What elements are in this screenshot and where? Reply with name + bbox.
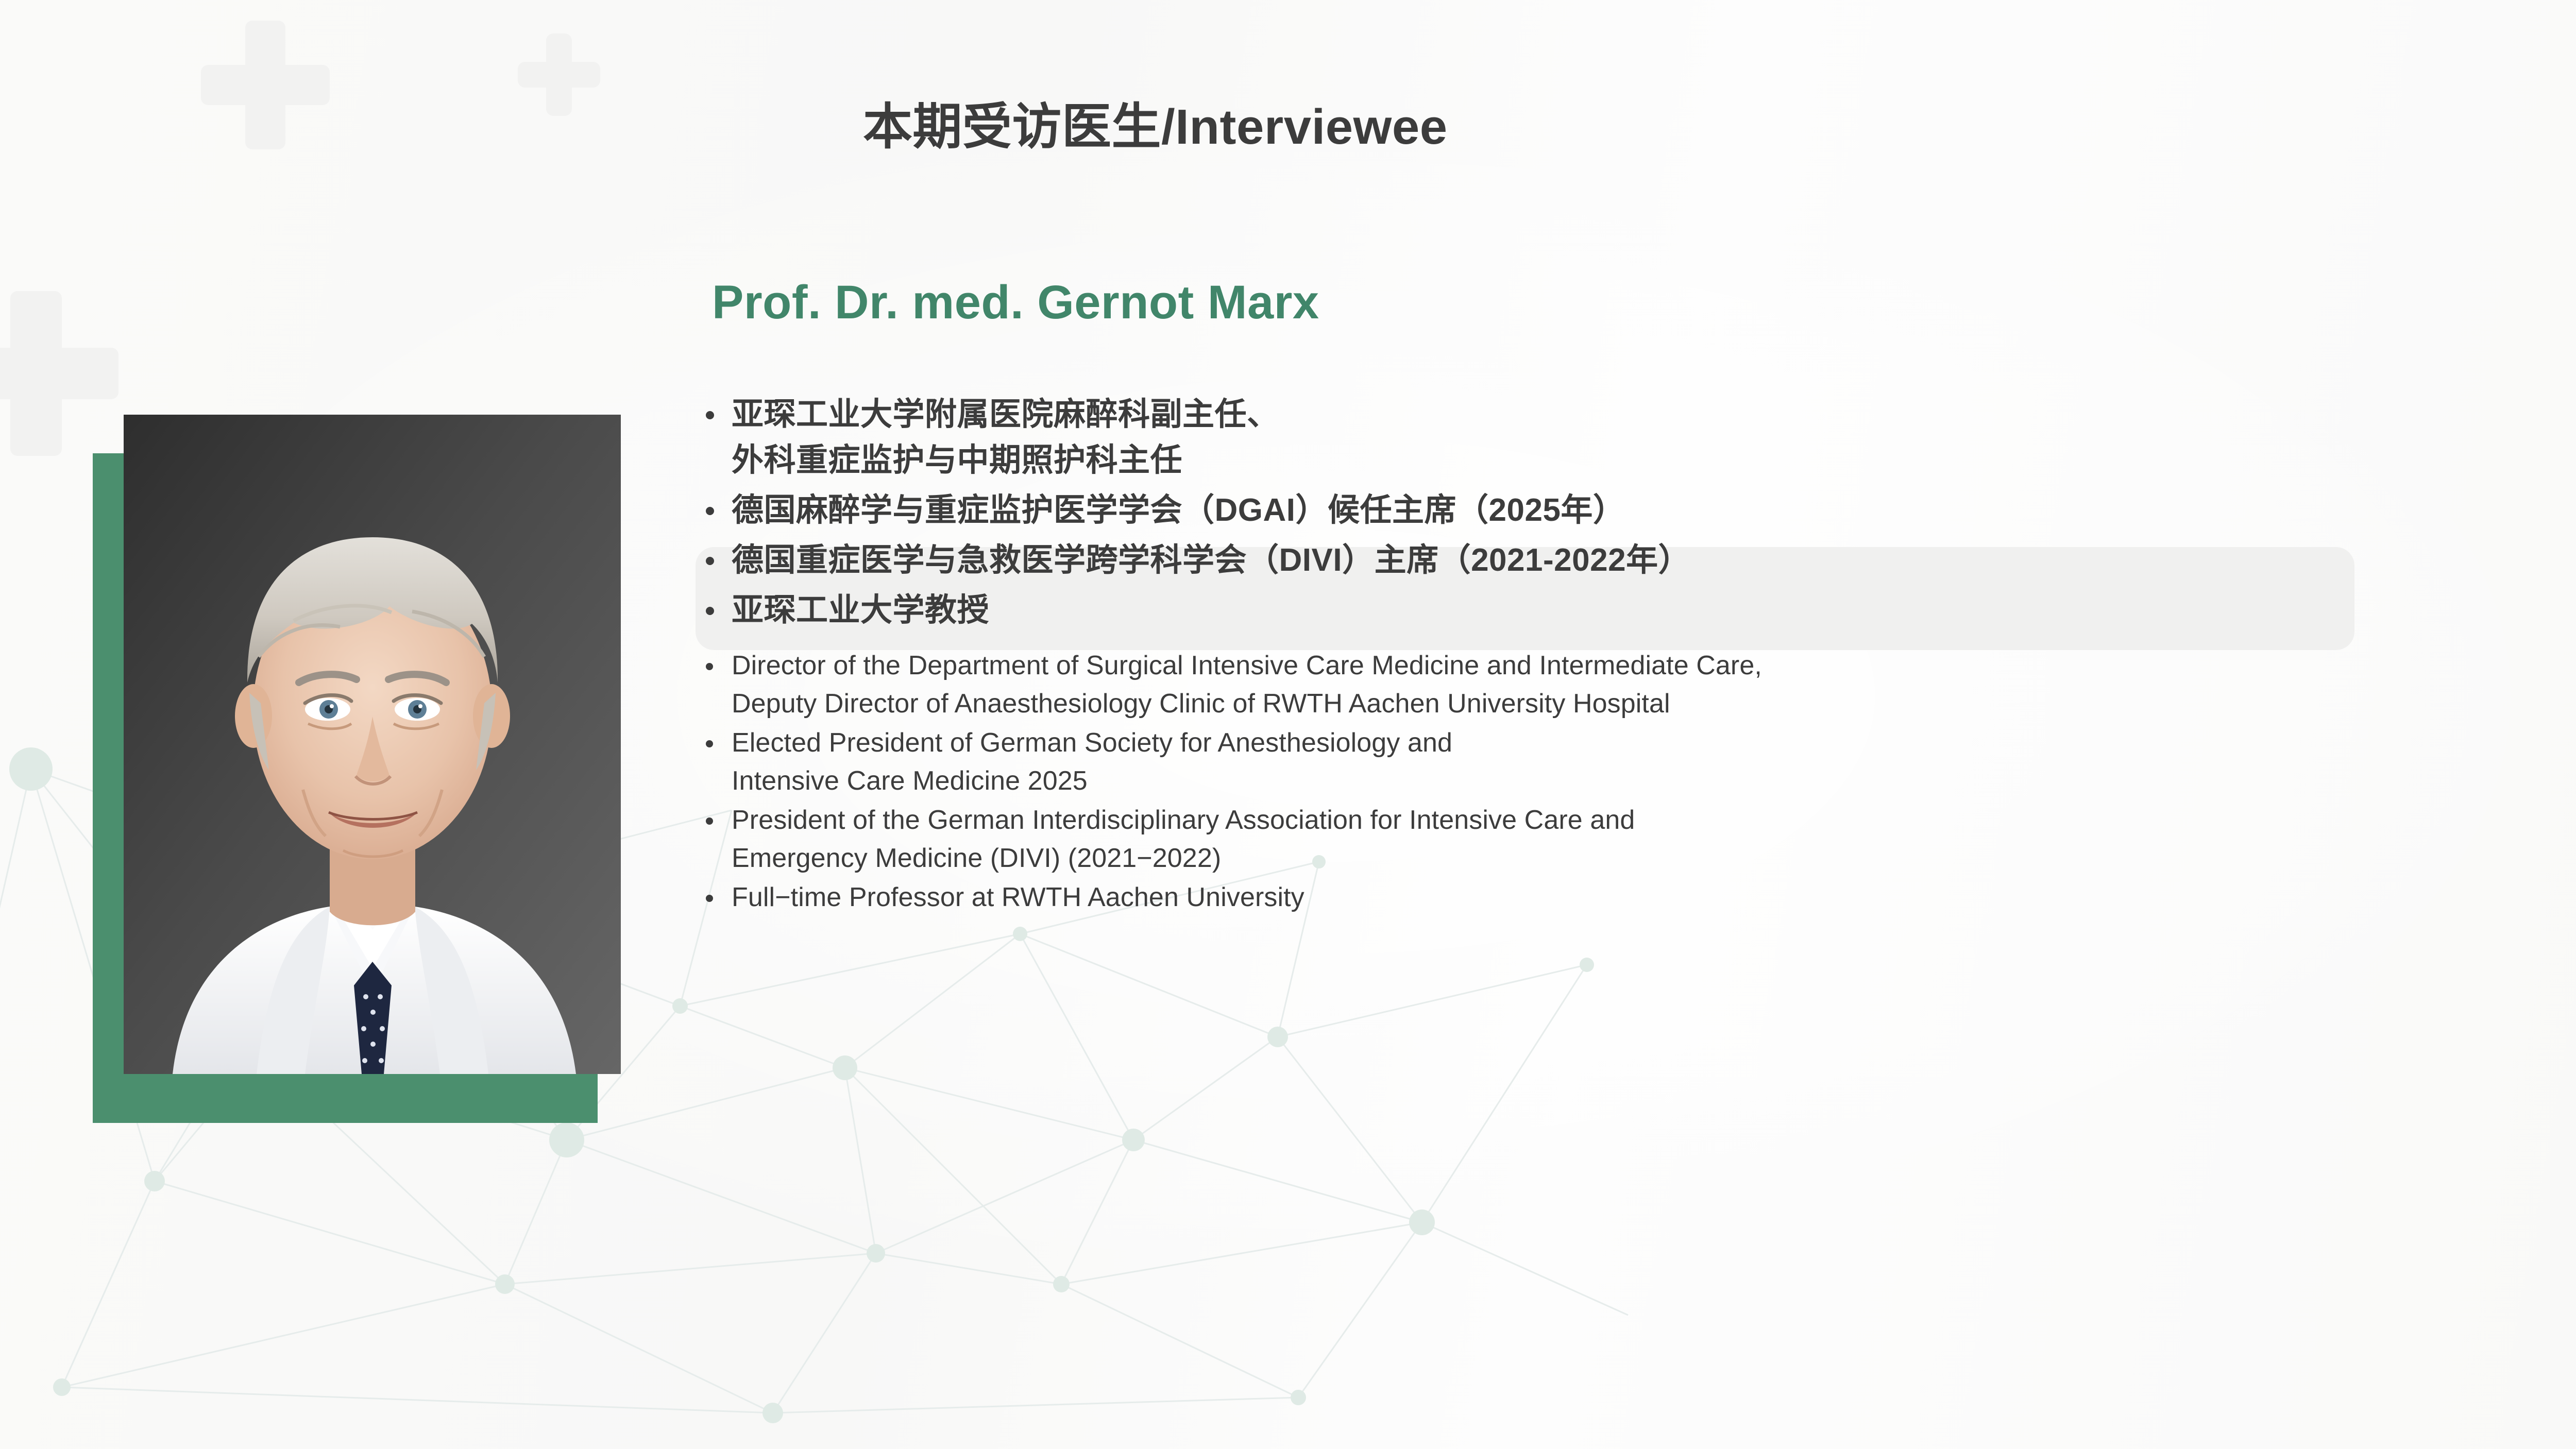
list-item: 德国麻醉学与重症监护医学学会（DGAI）候任主席（2025年） — [685, 487, 2488, 533]
cross-bar-horizontal — [201, 65, 330, 105]
list-item: Full−time Professor at RWTH Aachen Unive… — [685, 878, 2488, 916]
cross-decoration-left — [0, 291, 118, 456]
list-item: Director of the Department of Surgical I… — [685, 646, 2488, 723]
content-column: 本期受访医生/Interviewee Prof. Dr. med. Gernot… — [685, 0, 2519, 1449]
bullet-line: 亚琛工业大学教授 — [732, 587, 2488, 633]
bullet-line: Deputy Director of Anaesthesiology Clini… — [732, 685, 2488, 723]
list-item: Elected President of German Society for … — [685, 724, 2488, 800]
bullet-line: 德国麻醉学与重症监护医学学会（DGAI）候任主席（2025年） — [732, 487, 2488, 533]
list-item: 亚琛工业大学附属医院麻醉科副主任、 外科重症监护与中期照护科主任 — [685, 391, 2488, 483]
list-item: 亚琛工业大学教授 — [685, 587, 2488, 633]
cross-decoration-small — [518, 33, 600, 116]
doctor-name: Prof. Dr. med. Gernot Marx — [712, 276, 1319, 330]
bullet-line: Full−time Professor at RWTH Aachen Unive… — [732, 878, 2488, 916]
credentials-list: 亚琛工业大学附属医院麻醉科副主任、 外科重症监护与中期照护科主任 德国麻醉学与重… — [685, 391, 2488, 917]
cross-bar-horizontal — [518, 62, 600, 88]
list-item: President of the German Interdisciplinar… — [685, 801, 2488, 877]
bullet-line: President of the German Interdisciplinar… — [732, 801, 2488, 839]
bullet-line: 外科重症监护与中期照护科主任 — [732, 437, 2488, 483]
page-title-separator: / — [1161, 99, 1175, 155]
bullet-line: Director of the Department of Surgical I… — [732, 646, 2488, 685]
portrait-photo-block — [124, 415, 621, 1074]
page-title-en: Interviewee — [1175, 99, 1447, 155]
page-title-zh: 本期受访医生 — [863, 99, 1161, 155]
bullet-line: Intensive Care Medicine 2025 — [732, 762, 2488, 800]
bullet-line: Elected President of German Society for … — [732, 724, 2488, 762]
slide-canvas: 本期受访医生/Interviewee Prof. Dr. med. Gernot… — [0, 0, 2576, 1449]
cross-decoration-large — [201, 21, 330, 149]
bullet-line: 德国重症医学与急救医学跨学科学会（DIVI）主席（2021-2022年） — [732, 537, 2488, 583]
portrait-illustration — [124, 415, 621, 1074]
avatar — [124, 415, 621, 1074]
bullet-line: Emergency Medicine (DIVI) (2021−2022) — [732, 839, 2488, 877]
page-title: 本期受访医生/Interviewee — [863, 87, 1448, 158]
list-item: 德国重症医学与急救医学跨学科学会（DIVI）主席（2021-2022年） — [685, 537, 2488, 583]
bullet-line: 亚琛工业大学附属医院麻醉科副主任、 — [732, 391, 2488, 437]
cross-bar-horizontal — [0, 348, 118, 399]
